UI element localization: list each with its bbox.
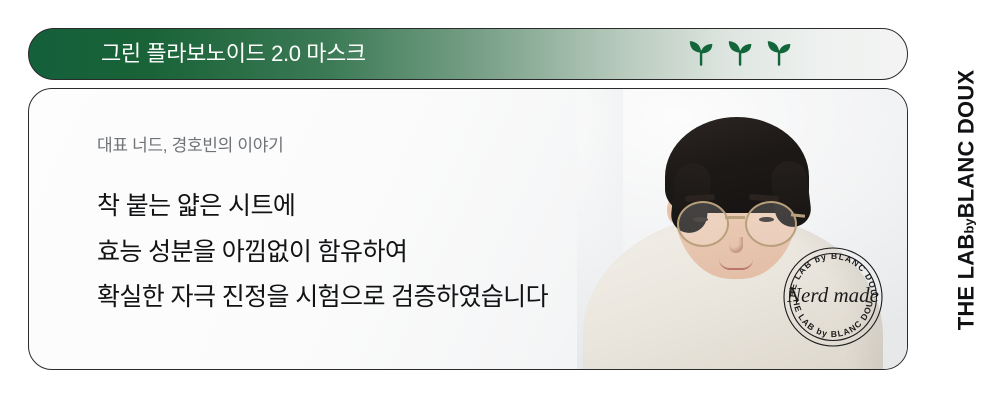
glasses-bridge <box>725 216 745 219</box>
headline-line-2: 효능 성분을 아낌없이 함유하여 <box>97 230 548 276</box>
nerd-made-stamp: THE LAB by BLANC DOUX THE LAB by BLANC D… <box>781 245 885 349</box>
sprout-icon <box>687 37 717 72</box>
card-headline: 착 붙는 얇은 시트에 효능 성분을 아낌없이 함유하여 확실한 자극 진정을 … <box>97 184 548 321</box>
product-banner: 그린 플라보노이드 2.0 마스크 <box>28 28 908 80</box>
story-card: THE LAB by BLANC DOUX THE LAB by BLANC D… <box>28 88 908 370</box>
sprout-icon <box>765 37 795 72</box>
brand-prefix: THE LAB <box>953 234 978 331</box>
headline-line-1: 착 붙는 얇은 시트에 <box>97 184 548 230</box>
banner-title: 그린 플라보노이드 2.0 마스크 <box>101 43 366 65</box>
glasses-lens-left <box>677 201 729 247</box>
photo-nose <box>729 237 743 253</box>
brand-connector: by <box>961 218 976 233</box>
card-text-block: 대표 너드, 경호빈의 이야기 착 붙는 얇은 시트에 효능 성분을 아낌없이 … <box>97 137 548 321</box>
page-root: 그린 플라보노이드 2.0 마스크 <box>0 0 1000 400</box>
brand-name: BLANC DOUX <box>953 70 978 219</box>
stamp-center-text: Nerd made <box>786 283 879 307</box>
headline-line-3: 확실한 자극 진정을 시험으로 검증하였습니다 <box>97 275 548 321</box>
sprout-icon <box>726 37 756 72</box>
card-eyebrow: 대표 너드, 경호빈의 이야기 <box>97 137 548 154</box>
vertical-brand-mark: THE LABbyBLANC DOUX <box>938 0 994 400</box>
glasses-lens-right <box>745 201 797 247</box>
sprout-icon-group <box>687 37 795 72</box>
vertical-brand-text: THE LABbyBLANC DOUX <box>955 70 977 331</box>
